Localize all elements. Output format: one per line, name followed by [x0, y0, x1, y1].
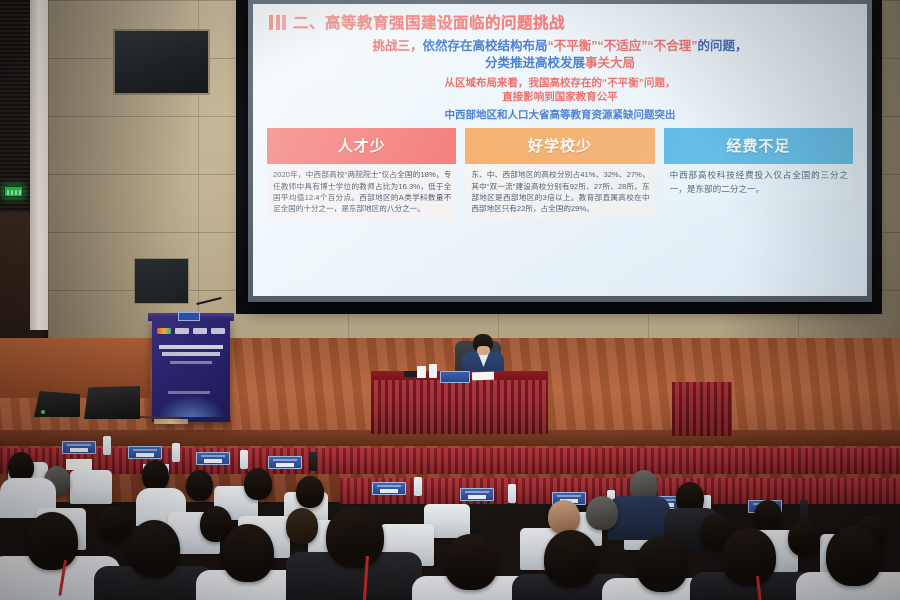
slide-line-1b: 依然存在高校结构布局 — [422, 39, 547, 53]
water-bottle — [172, 443, 180, 462]
stage-floor-items — [154, 419, 188, 424]
audience-head-front — [222, 524, 274, 582]
lectern-name-card — [178, 312, 200, 321]
audience-nameplate — [268, 456, 302, 469]
speaker-nameplate — [440, 371, 470, 383]
lectern — [152, 318, 230, 422]
slide-line-4: 直接影响到国家教育公平 — [253, 91, 867, 104]
slide-card-funding: 经费不足 中西部高校科技经费投入仅占全国的三分之一，是东部的二分之一。 — [664, 128, 853, 200]
audience-head-front — [636, 536, 688, 592]
right-side-table-cloth — [672, 382, 732, 436]
water-bottle — [414, 477, 422, 496]
slide-card-schools-body: 东、中、西部地区的高校分别占41%、32%、27%，其中“双一流”建设高校分别有… — [465, 164, 654, 219]
audience-head-front — [128, 520, 180, 578]
audience-nameplate — [196, 452, 230, 465]
thermos-bottle — [309, 452, 317, 471]
lectern-graphic-wave — [156, 395, 226, 417]
audience-head — [788, 520, 820, 556]
slide-card-schools: 好学校少 东、中、西部地区的高校分别占41%、32%、27%，其中“双一流”建设… — [465, 128, 654, 219]
audience-nameplate — [460, 488, 494, 501]
audience-head — [548, 500, 580, 534]
audience-head-front — [722, 528, 776, 586]
slide-line-1c: “不平衡” — [547, 39, 597, 53]
lectern-sponsor-logos — [157, 327, 225, 334]
slide-line-2b: 事关大局 — [585, 56, 635, 70]
lectern-subtitle-line — [170, 361, 212, 364]
slide-line-1d: “不适应” — [598, 39, 648, 53]
seated-presenter-face — [477, 346, 490, 355]
audience-head — [244, 468, 272, 500]
conference-hall-photo: 二、高等教育强国建设面临的问题挑战 挑战三，依然存在高校结构布局“不平衡”“不适… — [0, 0, 900, 600]
slide-card-schools-heading: 好学校少 — [465, 128, 654, 164]
audience-head-front — [326, 506, 384, 568]
slide-line-1e: “不合理” — [648, 39, 698, 53]
table-paper — [66, 459, 92, 470]
slide-line-3: 从区域布局来看，我国高校存在的“不平衡”问题， — [253, 77, 867, 90]
slide-section-title: 二、高等教育强国建设面临的问题挑战 — [293, 11, 565, 33]
slide-cards: 人才少 2020年，中西部高校“两院院士”仅占全国的18%，专任教师中具有博士学… — [253, 122, 867, 219]
slide-line-2a: 分类推进高校发展 — [485, 56, 585, 70]
slide-line-2: 分类推进高校发展事关大局 — [253, 55, 867, 71]
audience-head — [98, 506, 130, 542]
slide-card-talent-body: 2020年，中西部高校“两院院士”仅占全国的18%，专任教师中具有博士学位的教师… — [267, 164, 456, 219]
audience-head — [142, 460, 169, 491]
audience-head — [186, 470, 213, 501]
monitor-power-led-icon — [41, 410, 45, 414]
lectern-title-line-2 — [162, 352, 220, 356]
audience-nameplate — [128, 446, 162, 459]
lectern-footer-line — [168, 391, 210, 394]
audience-head — [286, 508, 318, 544]
slide-line-1f: 的问题， — [698, 39, 748, 53]
slide-card-talent: 人才少 2020年，中西部高校“两院院士”仅占全国的18%，专任教师中具有博士学… — [267, 128, 456, 219]
slide-line-5: 中西部地区和人口大省高等教育资源紧缺问题突出 — [253, 109, 867, 122]
audience-seat — [70, 470, 112, 504]
water-bottle — [103, 436, 111, 455]
water-bottle — [240, 450, 248, 469]
table-cup-right — [429, 364, 437, 378]
stage-monitor-speaker-right — [84, 386, 140, 419]
slide-title-row: 二、高等教育强国建设面临的问题挑战 — [253, 4, 867, 35]
speaker-papers — [472, 372, 494, 381]
audience-head — [754, 500, 782, 532]
audience-head — [586, 496, 618, 530]
water-bottle — [508, 484, 516, 503]
audience-nameplate — [62, 441, 96, 454]
slide-card-funding-body: 中西部高校科技经费投入仅占全国的三分之一，是东部的二分之一。 — [664, 164, 853, 200]
speaker-head-table-skirt — [371, 380, 548, 434]
audience-head-front — [444, 534, 498, 590]
slide-card-funding-heading: 经费不足 — [664, 128, 853, 164]
table-device — [404, 371, 418, 377]
title-bars-icon — [269, 15, 286, 30]
slide-line-1a: 挑战三， — [372, 39, 422, 53]
slide-card-talent-heading: 人才少 — [267, 128, 456, 164]
lectern-title-line-1 — [159, 345, 223, 349]
slide-line-1: 挑战三，依然存在高校结构布局“不平衡”“不适应”“不合理”的问题， — [253, 38, 867, 54]
audience-head-front — [544, 530, 598, 588]
audience-nameplate — [372, 482, 406, 495]
audience-head-front — [26, 512, 78, 570]
presentation-slide: 二、高等教育强国建设面临的问题挑战 挑战三，依然存在高校结构布局“不平衡”“不适… — [253, 4, 867, 296]
projection-screen-frame: 二、高等教育强国建设面临的问题挑战 挑战三，依然存在高校结构布局“不平衡”“不适… — [248, 0, 872, 302]
audience-head — [296, 476, 324, 508]
emergency-exit-sign-icon — [4, 186, 23, 197]
audience-head-front — [826, 526, 882, 586]
table-cup-left — [417, 366, 426, 378]
